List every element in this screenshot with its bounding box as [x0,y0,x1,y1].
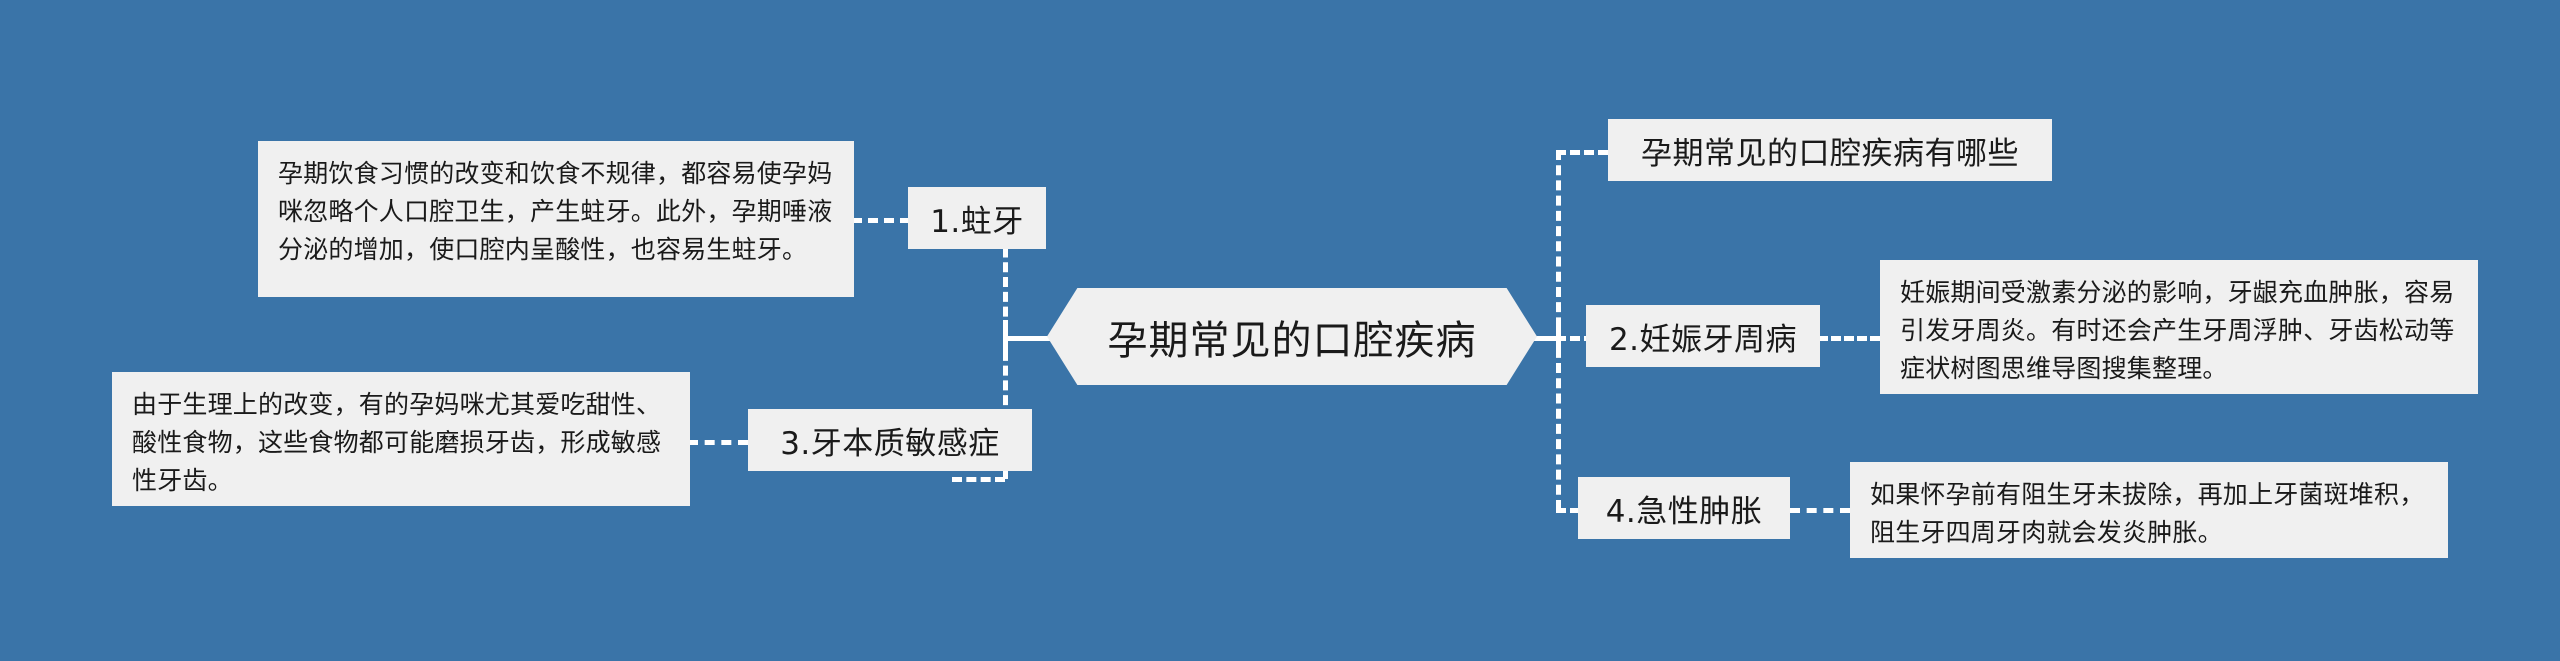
connector-branch2-label-to-detail [1818,336,1880,341]
branch-2-label[interactable]: 2.妊娠牙周病 [1586,305,1820,367]
connector-branch1-label-to-detail [852,218,910,223]
connector-right-title-to-trunk [1556,150,1608,155]
connector-left-junction-tick [1003,320,1008,353]
branch-title-label[interactable]: 孕期常见的口腔疾病有哪些 [1608,119,2052,181]
branch-3-label[interactable]: 3.牙本质敏感症 [748,409,1032,471]
branch-2-detail[interactable]: 妊娠期间受激素分泌的影响，牙龈充血肿胀，容易引发牙周炎。有时还会产生牙周浮肿、牙… [1880,260,2478,394]
branch-4-label[interactable]: 4.急性肿胀 [1578,477,1790,539]
connector-branch4-label-to-detail [1790,508,1850,513]
connector-branch3-label-to-detail [688,440,748,445]
connector-left-trunk-to-center [1003,336,1051,341]
center-node[interactable]: 孕期常见的口腔疾病 [1047,288,1537,385]
branch-1-detail[interactable]: 孕期饮食习惯的改变和饮食不规律，都容易使孕妈咪忽略个人口腔卫生，产生蛀牙。此外，… [258,141,854,297]
branch-1-label[interactable]: 1.蛀牙 [908,187,1046,249]
connector-branch3-to-trunk [952,477,1005,482]
branch-3-detail[interactable]: 由于生理上的改变，有的孕妈咪尤其爱吃甜性、酸性食物，这些食物都可能磨损牙齿，形成… [112,372,690,506]
mindmap-canvas: 孕期常见的口腔疾病 孕期饮食习惯的改变和饮食不规律，都容易使孕妈咪忽略个人口腔卫… [0,0,2560,661]
branch-4-detail[interactable]: 如果怀孕前有阻生牙未拔除，再加上牙菌斑堆积，阻生牙四周牙肉就会发炎肿胀。 [1850,462,2448,558]
